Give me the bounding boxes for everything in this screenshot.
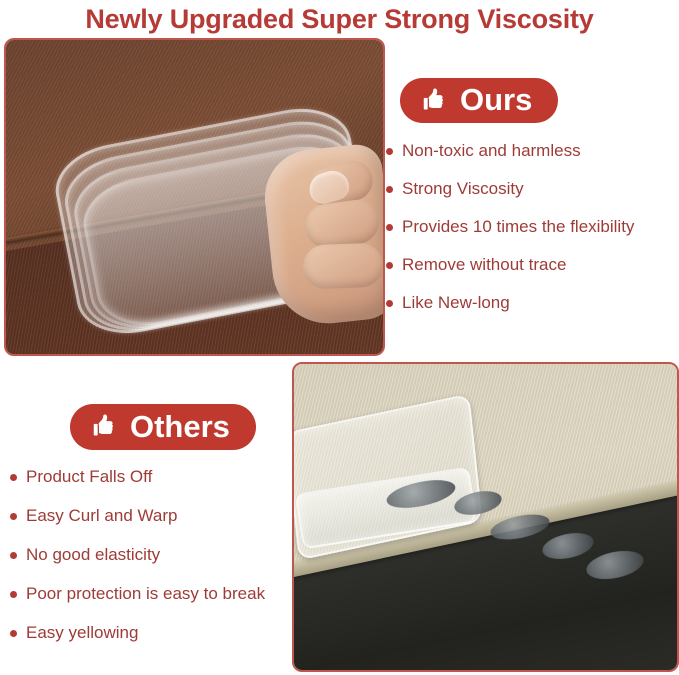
photo-others-scene [294, 364, 677, 670]
bullet-dot-icon [386, 300, 393, 307]
list-item: Remove without trace [386, 254, 676, 275]
thumbs-down-icon [90, 412, 120, 442]
bullet-dot-icon [10, 552, 17, 559]
bullet-dot-icon [386, 224, 393, 231]
infographic-page: Newly Upgraded Super Strong Viscosity Ou… [0, 0, 679, 675]
bullet-dot-icon [386, 186, 393, 193]
list-item-label: Easy yellowing [26, 622, 138, 643]
bullet-dot-icon [10, 513, 17, 520]
photo-ours-scene [6, 40, 383, 354]
list-item: Poor protection is easy to break [10, 583, 290, 604]
list-item-label: Non-toxic and harmless [402, 140, 581, 161]
list-item-label: Easy Curl and Warp [26, 505, 177, 526]
page-title: Newly Upgraded Super Strong Viscosity [0, 0, 679, 38]
bullet-list-others: Product Falls Off Easy Curl and Warp No … [10, 466, 290, 661]
bullet-dot-icon [386, 262, 393, 269]
photo-ours [4, 38, 385, 356]
list-item-label: Strong Viscosity [402, 178, 524, 199]
list-item-label: Remove without trace [402, 254, 566, 275]
photo-others [292, 362, 679, 672]
badge-ours: Ours [400, 78, 558, 123]
list-item: No good elasticity [10, 544, 290, 565]
list-item-label: Product Falls Off [26, 466, 152, 487]
bullet-dot-icon [10, 474, 17, 481]
list-item-label: Poor protection is easy to break [26, 583, 265, 604]
badge-ours-label: Ours [460, 84, 532, 115]
bullet-dot-icon [10, 591, 17, 598]
list-item: Provides 10 times the flexibility [386, 216, 676, 237]
list-item-label: No good elasticity [26, 544, 160, 565]
list-item: Product Falls Off [10, 466, 290, 487]
list-item: Strong Viscosity [386, 178, 676, 199]
list-item: Like New-long [386, 292, 676, 313]
list-item: Non-toxic and harmless [386, 140, 676, 161]
badge-others-label: Others [130, 411, 230, 442]
thumbs-up-icon [420, 86, 450, 116]
list-item: Easy yellowing [10, 622, 290, 643]
list-item-label: Like New-long [402, 292, 510, 313]
bullet-dot-icon [10, 630, 17, 637]
list-item-label: Provides 10 times the flexibility [402, 216, 634, 237]
bullet-dot-icon [386, 148, 393, 155]
bullet-list-ours: Non-toxic and harmless Strong Viscosity … [386, 140, 676, 330]
list-item: Easy Curl and Warp [10, 505, 290, 526]
badge-others: Others [70, 404, 256, 450]
finger [302, 243, 383, 290]
